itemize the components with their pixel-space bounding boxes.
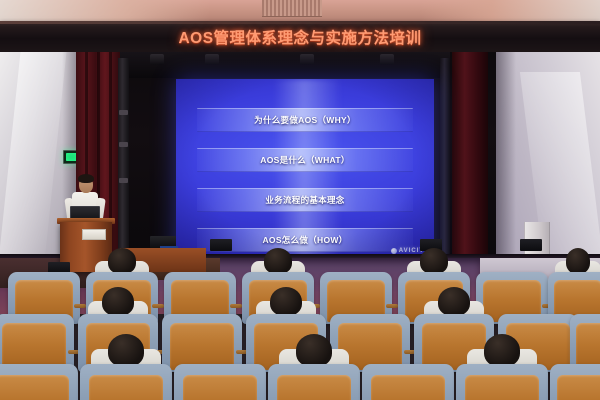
seat-cushion [371, 375, 445, 400]
audience-member-head [270, 287, 302, 316]
auditorium-seat [268, 364, 360, 400]
ceiling [0, 0, 600, 22]
auditorium-seat [456, 364, 548, 400]
stage-truss-left [118, 58, 129, 258]
ceiling-light-left [0, 0, 210, 22]
seat-cushion [2, 323, 66, 369]
stage-spotlight [150, 54, 164, 65]
presenter-hair [78, 174, 94, 183]
seat-cushion [0, 375, 69, 400]
seat-armrest [230, 304, 242, 308]
stage-spotlight [205, 54, 219, 65]
podium-nameplate [82, 229, 106, 240]
audience-seating [0, 272, 600, 400]
ceiling-air-vent [262, 0, 322, 17]
audience-member-head [438, 287, 470, 316]
seat-cushion [89, 375, 163, 400]
seat-armrest [74, 304, 86, 308]
stage-truss-right [440, 58, 450, 258]
seat-armrest [386, 304, 398, 308]
audience-member-head [296, 334, 333, 367]
banner-title: AOS管理体系理念与实施方法培训 [178, 26, 421, 48]
audience-member-head [420, 248, 449, 274]
ceiling-light-right [420, 0, 600, 22]
auditorium-seat [550, 364, 600, 400]
auditorium-seat [0, 364, 78, 400]
auditorium-seat [174, 364, 266, 400]
audience-member-head [484, 334, 521, 367]
audience-member-head [102, 287, 134, 316]
auditorium-seat [80, 364, 172, 400]
stage-speaker-box [520, 239, 542, 251]
projection-screen: 为什么要做AOS（WHY） AOS是什么（WHAT） 业务流程的基本理念 AOS… [176, 79, 434, 263]
seat-cushion [557, 375, 600, 400]
audience-member-head [264, 248, 293, 274]
stage-curtain-right [452, 52, 488, 264]
audience-member-head [108, 248, 137, 274]
screen-vignette [176, 79, 434, 263]
auditorium-photo: AOS管理体系理念与实施方法培训 为什么要做AOS（WHY） A [0, 0, 600, 400]
led-banner: AOS管理体系理念与实施方法培训 [0, 21, 600, 53]
seat-cushion [170, 323, 234, 369]
stage-spotlight [300, 54, 314, 65]
stage-speaker-box [210, 239, 232, 251]
audience-member-head [566, 248, 590, 274]
seat-cushion [465, 375, 539, 400]
auditorium-seat [362, 364, 454, 400]
seat-cushion [576, 323, 600, 369]
seat-cushion [183, 375, 257, 400]
seat-cushion [277, 375, 351, 400]
stage-lighting-rig [120, 52, 450, 78]
stage-spotlight [380, 54, 394, 65]
audience-member-head [108, 334, 145, 367]
seat-armrest [152, 304, 164, 308]
